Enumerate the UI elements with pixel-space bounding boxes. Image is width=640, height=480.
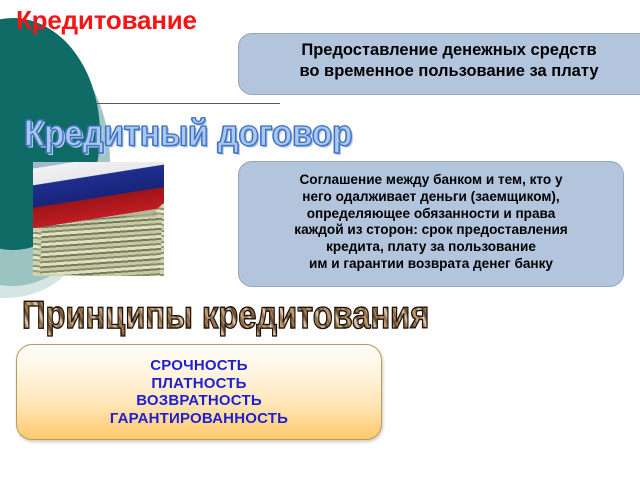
principle-item-2: ПЛАТНОСТЬ [151, 375, 246, 393]
principle-item-4: ГАРАНТИРОВАННОСТЬ [110, 410, 288, 428]
principle-item-3: ВОЗВРАТНОСТЬ [136, 392, 262, 410]
agreement-line-4: каждой из сторон: срок предоставления [245, 222, 617, 239]
definition-callout-box: Предоставление денежных средств во време… [238, 33, 640, 95]
agreement-line-2: него одалживает деньги (заемщиком), [245, 189, 617, 206]
agreement-callout-box: Соглашение между банком и тем, кто у нег… [238, 161, 624, 287]
principle-item-1: СРОЧНОСТЬ [150, 357, 248, 375]
slide-canvas: Кредитование Предоставление денежных сре… [0, 0, 640, 480]
agreement-line-1: Соглашение между банком и тем, кто у [245, 172, 617, 189]
money-flag-photo [33, 162, 164, 276]
agreement-line-3: определяющее обязанности и права [245, 206, 617, 223]
principles-title-wordart: Принципы кредитования [22, 294, 429, 335]
slide-headline: Кредитование [16, 6, 230, 35]
contract-title-wordart: Кредитный договор [24, 113, 352, 153]
agreement-line-6: им и гарантии возврата денег банку [245, 256, 617, 273]
definition-line-2: во временное пользование за плату [247, 61, 640, 82]
principles-callout-box: СРОЧНОСТЬ ПЛАТНОСТЬ ВОЗВРАТНОСТЬ ГАРАНТИ… [16, 344, 382, 440]
header-separator-rule [97, 103, 280, 104]
definition-line-1: Предоставление денежных средств [247, 40, 640, 61]
agreement-line-5: кредита, плату за пользование [245, 239, 617, 256]
